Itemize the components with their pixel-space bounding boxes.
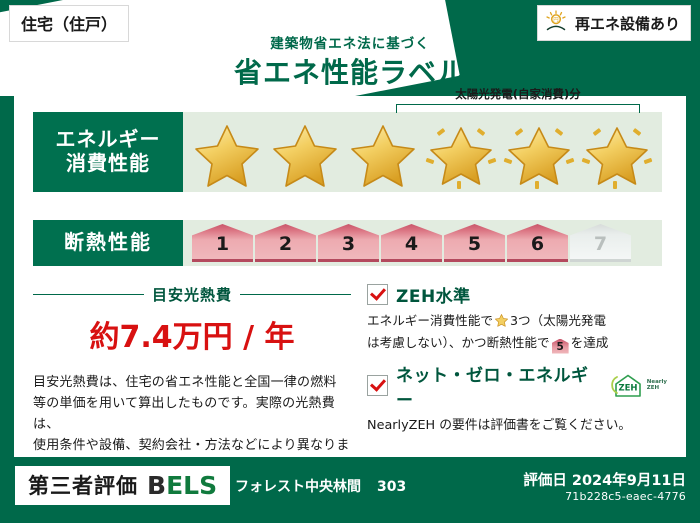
utility-cost-column: 目安光熱費 約7.4万円 / 年 目安光熱費は、住宅の省エネ性能と全国一律の燃料… (33, 282, 351, 477)
star-icon (344, 118, 422, 190)
svg-text:円: 円 (553, 17, 558, 24)
star-icon-solar (422, 118, 500, 190)
energy-rating-stars-area: 太陽光発電(自家消費)分 (183, 112, 662, 192)
cost-note-line-2: 等の単価を用いて算出したものです。実際の光熱費は、 (33, 393, 351, 435)
insulation-performance-label: 断熱性能 (33, 220, 183, 266)
housing-type-badge: 住宅（住戸） (9, 5, 129, 42)
bels-energy-label: 住宅（住戸） 円 再エネ設備あり 建築物省エネ法に基づく 省エネ性能ラベル (0, 0, 700, 523)
bracket-tick-left (396, 104, 397, 113)
bels-logo-els: ELS (166, 471, 217, 500)
svg-text:ZEH: ZEH (618, 383, 637, 393)
insulation-label-text: 断熱性能 (64, 231, 152, 255)
net-zero-energy-block: ネット・ゼロ・エネルギー ZEH Nearly ZEH (367, 361, 667, 435)
insulation-level-3: 3 (318, 224, 379, 262)
star-icon-solar (500, 118, 578, 190)
evaluation-date: 評価日 2024年9月11日 (523, 469, 686, 490)
cost-rule-right (240, 294, 351, 296)
star-icon (266, 118, 344, 190)
zeh-desc-part-c: を達成 (571, 335, 609, 350)
cost-rule-left (33, 294, 144, 296)
third-party-eval-text: 第三者評価 (28, 470, 138, 500)
utility-cost-header: 目安光熱費 (33, 284, 351, 305)
insulation-level-4: 4 (381, 224, 442, 262)
insulation-performance-row: 断熱性能 1 2 3 4 5 6 7 (33, 220, 662, 266)
inline-insulation-level-icon: 5 (552, 339, 569, 354)
energy-label-line2: 消費性能 (66, 152, 150, 176)
label-title-block: 建築物省エネ法に基づく 省エネ性能ラベル (0, 38, 700, 90)
zeh-desc-part-star-count: 3つ（太陽光発電 (510, 313, 606, 328)
net-zero-energy-header: ネット・ゼロ・エネルギー ZEH Nearly ZEH (367, 361, 667, 411)
property-name: フォレスト中央林間 (235, 479, 361, 495)
zeh-standard-header: ZEH水準 (367, 282, 667, 307)
inline-star-icon (494, 313, 509, 333)
label-footer: 第三者評価 BELS フォレスト中央林間303 評価日 2024年9月11日 7… (0, 457, 700, 523)
energy-performance-row: エネルギー 消費性能 太陽光発電(自家消費)分 (33, 112, 662, 192)
property-info: フォレスト中央林間303 (235, 476, 406, 496)
net-zero-checkbox-icon[interactable] (367, 375, 388, 396)
label-title: 省エネ性能ラベル (0, 55, 700, 90)
zeh-standard-checkbox-icon[interactable] (367, 284, 388, 305)
zeh-standard-block: ZEH水準 エネルギー消費性能で3つ（太陽光発電 は考慮しない）、かつ断熱性能で… (367, 282, 667, 354)
bels-logo-b: B (147, 471, 166, 500)
solar-contribution-bracket: 太陽光発電(自家消費)分 (396, 86, 640, 111)
insulation-level-scale: 1 2 3 4 5 6 7 (183, 220, 662, 266)
label-body-panel: エネルギー 消費性能 太陽光発電(自家消費)分 (14, 96, 686, 457)
zeh-logo-sub-zeh: ZEH (647, 386, 667, 392)
insulation-level-1: 1 (192, 224, 253, 262)
property-unit-number: 303 (377, 479, 406, 495)
star-rating-group (188, 118, 656, 190)
zeh-desc-part-a: エネルギー消費性能で (367, 313, 493, 328)
cost-note-line-1: 目安光熱費は、住宅の省エネ性能と全国一律の燃料 (33, 372, 351, 393)
insulation-level-6: 6 (507, 224, 568, 262)
utility-cost-title: 目安光熱費 (152, 284, 232, 305)
evaluation-id: 71b228c5-eaec-4776 (565, 490, 686, 503)
renewable-equipment-badge: 円 再エネ設備あり (537, 5, 691, 41)
insulation-level-7: 7 (570, 224, 631, 262)
insulation-level-5: 5 (444, 224, 505, 262)
label-subtitle: 建築物省エネ法に基づく (0, 38, 700, 52)
zeh-column: ZEH水準 エネルギー消費性能で3つ（太陽光発電 は考慮しない）、かつ断熱性能で… (351, 282, 667, 477)
net-zero-energy-note: NearlyZEH の要件は評価書をご覧ください。 (367, 416, 667, 435)
energy-performance-label: エネルギー 消費性能 (33, 112, 183, 192)
bels-certification-badge: 第三者評価 BELS (15, 466, 230, 505)
insulation-level-2: 2 (255, 224, 316, 262)
energy-label-line1: エネルギー (56, 128, 161, 152)
bracket-line (396, 104, 640, 105)
sun-solar-icon: 円 (544, 10, 568, 36)
zeh-desc-part-b: は考慮しない）、かつ断熱性能で (367, 335, 550, 350)
lower-section: 目安光熱費 約7.4万円 / 年 目安光熱費は、住宅の省エネ性能と全国一律の燃料… (33, 282, 667, 477)
utility-cost-value: 約7.4万円 / 年 (33, 312, 351, 356)
renewable-equipment-label: 再エネ設備あり (575, 13, 680, 34)
net-zero-energy-title: ネット・ゼロ・エネルギー (396, 361, 600, 411)
zeh-standard-description: エネルギー消費性能で3つ（太陽光発電 は考慮しない）、かつ断熱性能で5を達成 (367, 311, 667, 354)
zeh-standard-title: ZEH水準 (396, 282, 471, 307)
star-icon (188, 118, 266, 190)
zeh-house-logo: ZEH Nearly ZEH (611, 373, 667, 399)
star-icon-solar (578, 118, 656, 190)
bracket-tick-right (639, 104, 640, 113)
